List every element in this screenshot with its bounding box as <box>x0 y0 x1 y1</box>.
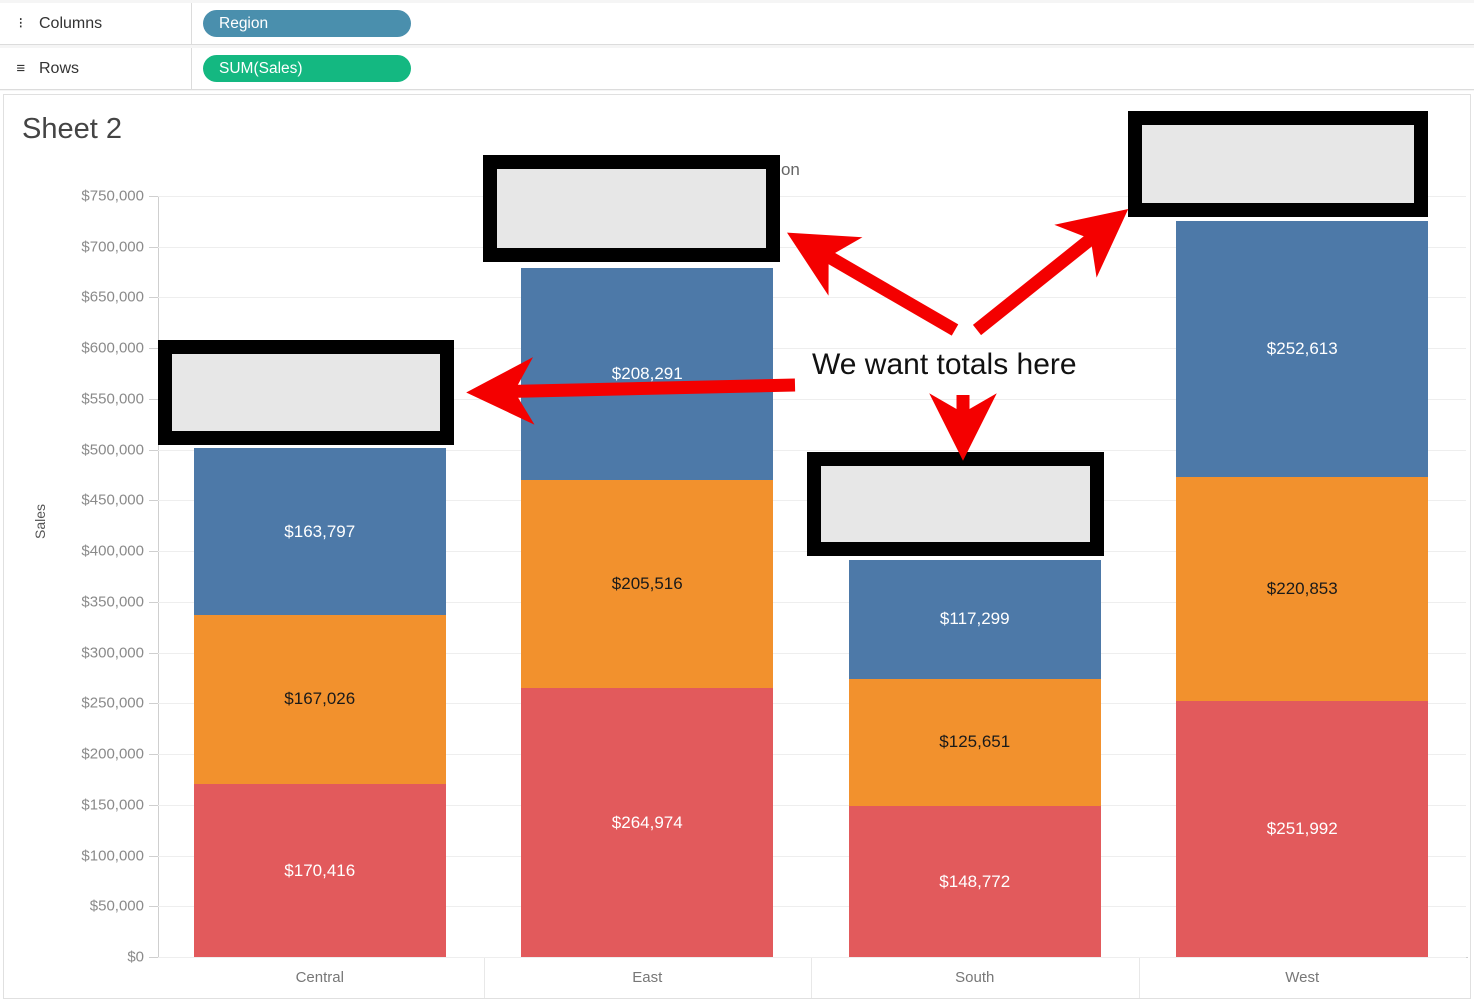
columns-shelf-label-cell: ⁝ Columns <box>0 3 192 44</box>
column-divider <box>484 958 485 998</box>
y-tick-label: $700,000 <box>81 238 144 255</box>
y-tick-mark <box>149 602 158 603</box>
y-tick-mark <box>149 196 158 197</box>
bar-segment[interactable]: $163,797 <box>194 448 446 614</box>
bar-value-label: $251,992 <box>1267 819 1338 839</box>
y-tick-label: $500,000 <box>81 441 144 458</box>
bar-value-label: $208,291 <box>612 364 683 384</box>
bar-segment[interactable]: $117,299 <box>849 560 1101 679</box>
bar-segment[interactable]: $251,992 <box>1176 701 1428 957</box>
y-tick-label: $550,000 <box>81 390 144 407</box>
x-tick-label-west[interactable]: West <box>1285 969 1319 986</box>
y-tick-label: $750,000 <box>81 188 144 205</box>
y-tick-label: $350,000 <box>81 593 144 610</box>
column-divider <box>811 958 812 998</box>
column-header-region: Region <box>746 160 800 180</box>
y-tick-mark <box>149 703 158 704</box>
bar-value-label: $125,651 <box>939 732 1010 752</box>
bar-stack-east[interactable]: $264,974$205,516$208,291 <box>521 196 773 957</box>
y-tick-label: $400,000 <box>81 543 144 560</box>
y-tick-mark <box>149 805 158 806</box>
y-tick-mark <box>149 551 158 552</box>
y-tick-label: $600,000 <box>81 340 144 357</box>
y-tick-label: $50,000 <box>90 898 144 915</box>
bar-segment[interactable]: $125,651 <box>849 679 1101 806</box>
columns-shelf-label: Columns <box>39 15 102 33</box>
shelf-panel: ⁝ Columns Region ≡ Rows SUM(Sales) <box>0 0 1474 91</box>
page-title: Sheet 2 <box>22 113 122 146</box>
bar-value-label: $148,772 <box>939 872 1010 892</box>
x-tick-label-central[interactable]: Central <box>296 969 344 986</box>
bar-value-label: $220,853 <box>1267 579 1338 599</box>
y-tick-mark <box>149 856 158 857</box>
columns-icon: ⁝ <box>13 16 29 31</box>
y-tick-label: $0 <box>127 949 144 966</box>
bar-value-label: $170,416 <box>284 861 355 881</box>
y-tick-label: $250,000 <box>81 695 144 712</box>
bar-stack-south[interactable]: $148,772$125,651$117,299 <box>849 196 1101 957</box>
bar-segment[interactable]: $264,974 <box>521 688 773 957</box>
rows-shelf[interactable]: ≡ Rows SUM(Sales) <box>0 48 1474 90</box>
y-tick-mark <box>149 450 158 451</box>
columns-shelf[interactable]: ⁝ Columns Region <box>0 3 1474 45</box>
bar-segment[interactable]: $220,853 <box>1176 477 1428 701</box>
pill-sum-sales[interactable]: SUM(Sales) <box>203 55 411 82</box>
worksheet-canvas[interactable]: Sheet 2 Region Sales $750,000$700,000$65… <box>3 94 1471 999</box>
y-tick-mark <box>149 653 158 654</box>
y-tick-mark <box>149 957 158 958</box>
x-tick-label-east[interactable]: East <box>632 969 662 986</box>
y-tick-mark <box>149 500 158 501</box>
column-divider <box>1139 958 1140 998</box>
bar-segment[interactable]: $148,772 <box>849 806 1101 957</box>
bar-value-label: $205,516 <box>612 574 683 594</box>
bar-segment[interactable]: $167,026 <box>194 615 446 784</box>
bar-segment[interactable]: $170,416 <box>194 784 446 957</box>
y-tick-mark <box>149 247 158 248</box>
rows-icon: ≡ <box>13 61 29 76</box>
bar-segment[interactable]: $252,613 <box>1176 221 1428 477</box>
bar-segment[interactable]: $205,516 <box>521 480 773 689</box>
bar-value-label: $167,026 <box>284 689 355 709</box>
y-tick-mark <box>149 754 158 755</box>
y-tick-label: $100,000 <box>81 847 144 864</box>
y-tick-label: $150,000 <box>81 796 144 813</box>
y-tick-label: $200,000 <box>81 746 144 763</box>
y-tick-label: $650,000 <box>81 289 144 306</box>
y-tick-label: $450,000 <box>81 492 144 509</box>
bar-stack-west[interactable]: $251,992$220,853$252,613 <box>1176 196 1428 957</box>
y-tick-label: $300,000 <box>81 644 144 661</box>
y-axis-tick-labels: $750,000$700,000$650,000$600,000$550,000… <box>4 196 156 957</box>
y-tick-mark <box>149 399 158 400</box>
bar-segment[interactable]: $208,291 <box>521 268 773 479</box>
bar-value-label: $117,299 <box>940 609 1010 629</box>
y-tick-mark <box>149 906 158 907</box>
plot-area[interactable]: $170,416$167,026$163,797$264,974$205,516… <box>156 196 1466 957</box>
rows-shelf-label: Rows <box>39 60 79 78</box>
y-tick-mark <box>149 297 158 298</box>
bar-value-label: $264,974 <box>612 813 683 833</box>
bar-stack-central[interactable]: $170,416$167,026$163,797 <box>194 196 446 957</box>
y-tick-mark <box>149 348 158 349</box>
x-tick-label-south[interactable]: South <box>955 969 994 986</box>
bar-value-label: $252,613 <box>1267 339 1338 359</box>
rows-shelf-label-cell: ≡ Rows <box>0 48 192 89</box>
bar-value-label: $163,797 <box>284 522 355 542</box>
pill-region[interactable]: Region <box>203 10 411 37</box>
